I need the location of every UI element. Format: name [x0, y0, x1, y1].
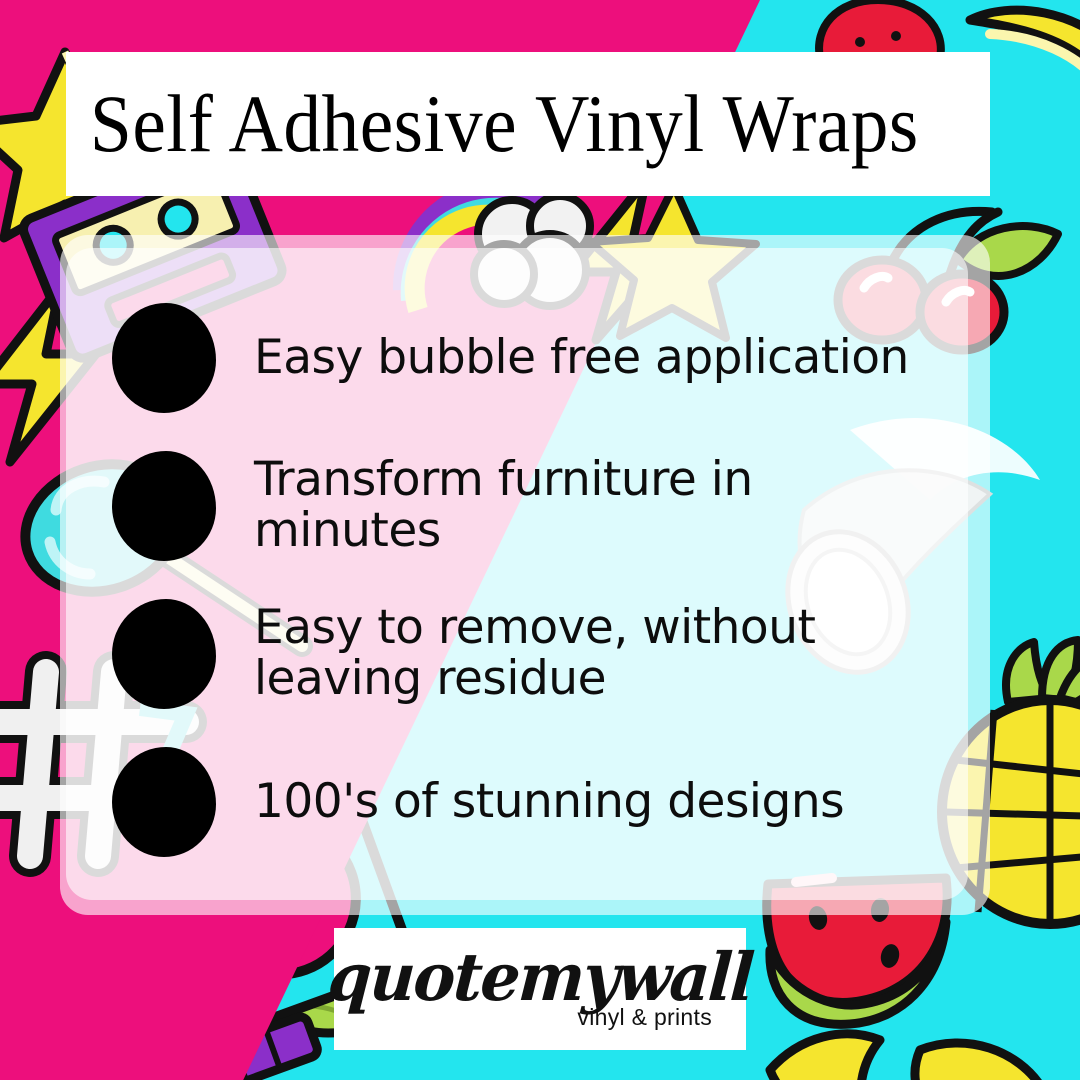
list-item: 100's of stunning designs — [112, 728, 928, 876]
feature-text: Easy bubble free application — [254, 333, 909, 384]
feature-text: 100's of stunning designs — [254, 777, 844, 828]
list-item: Easy to remove, without leaving residue — [112, 580, 928, 728]
poster-canvas: Self Adhesive Vinyl Wraps Easy bubble fr… — [0, 0, 1080, 1080]
title-banner: Self Adhesive Vinyl Wraps — [66, 52, 990, 196]
logo-wordmark: quotemywall — [326, 947, 754, 1008]
bullet-dot-icon — [112, 303, 216, 413]
page-title: Self Adhesive Vinyl Wraps — [66, 83, 919, 165]
list-item: Transform furniture in minutes — [112, 432, 928, 580]
banana-icon — [760, 1010, 1060, 1080]
bullet-dot-icon — [112, 451, 216, 561]
brand-logo: quotemywall vinyl & prints — [334, 928, 746, 1050]
feature-text: Easy to remove, without leaving residue — [254, 603, 928, 705]
bullet-dot-icon — [112, 747, 216, 857]
list-item: Easy bubble free application — [112, 284, 928, 432]
features-list: Easy bubble free application Transform f… — [66, 248, 968, 900]
bullet-dot-icon — [112, 599, 216, 709]
feature-text: Transform furniture in minutes — [254, 455, 928, 557]
